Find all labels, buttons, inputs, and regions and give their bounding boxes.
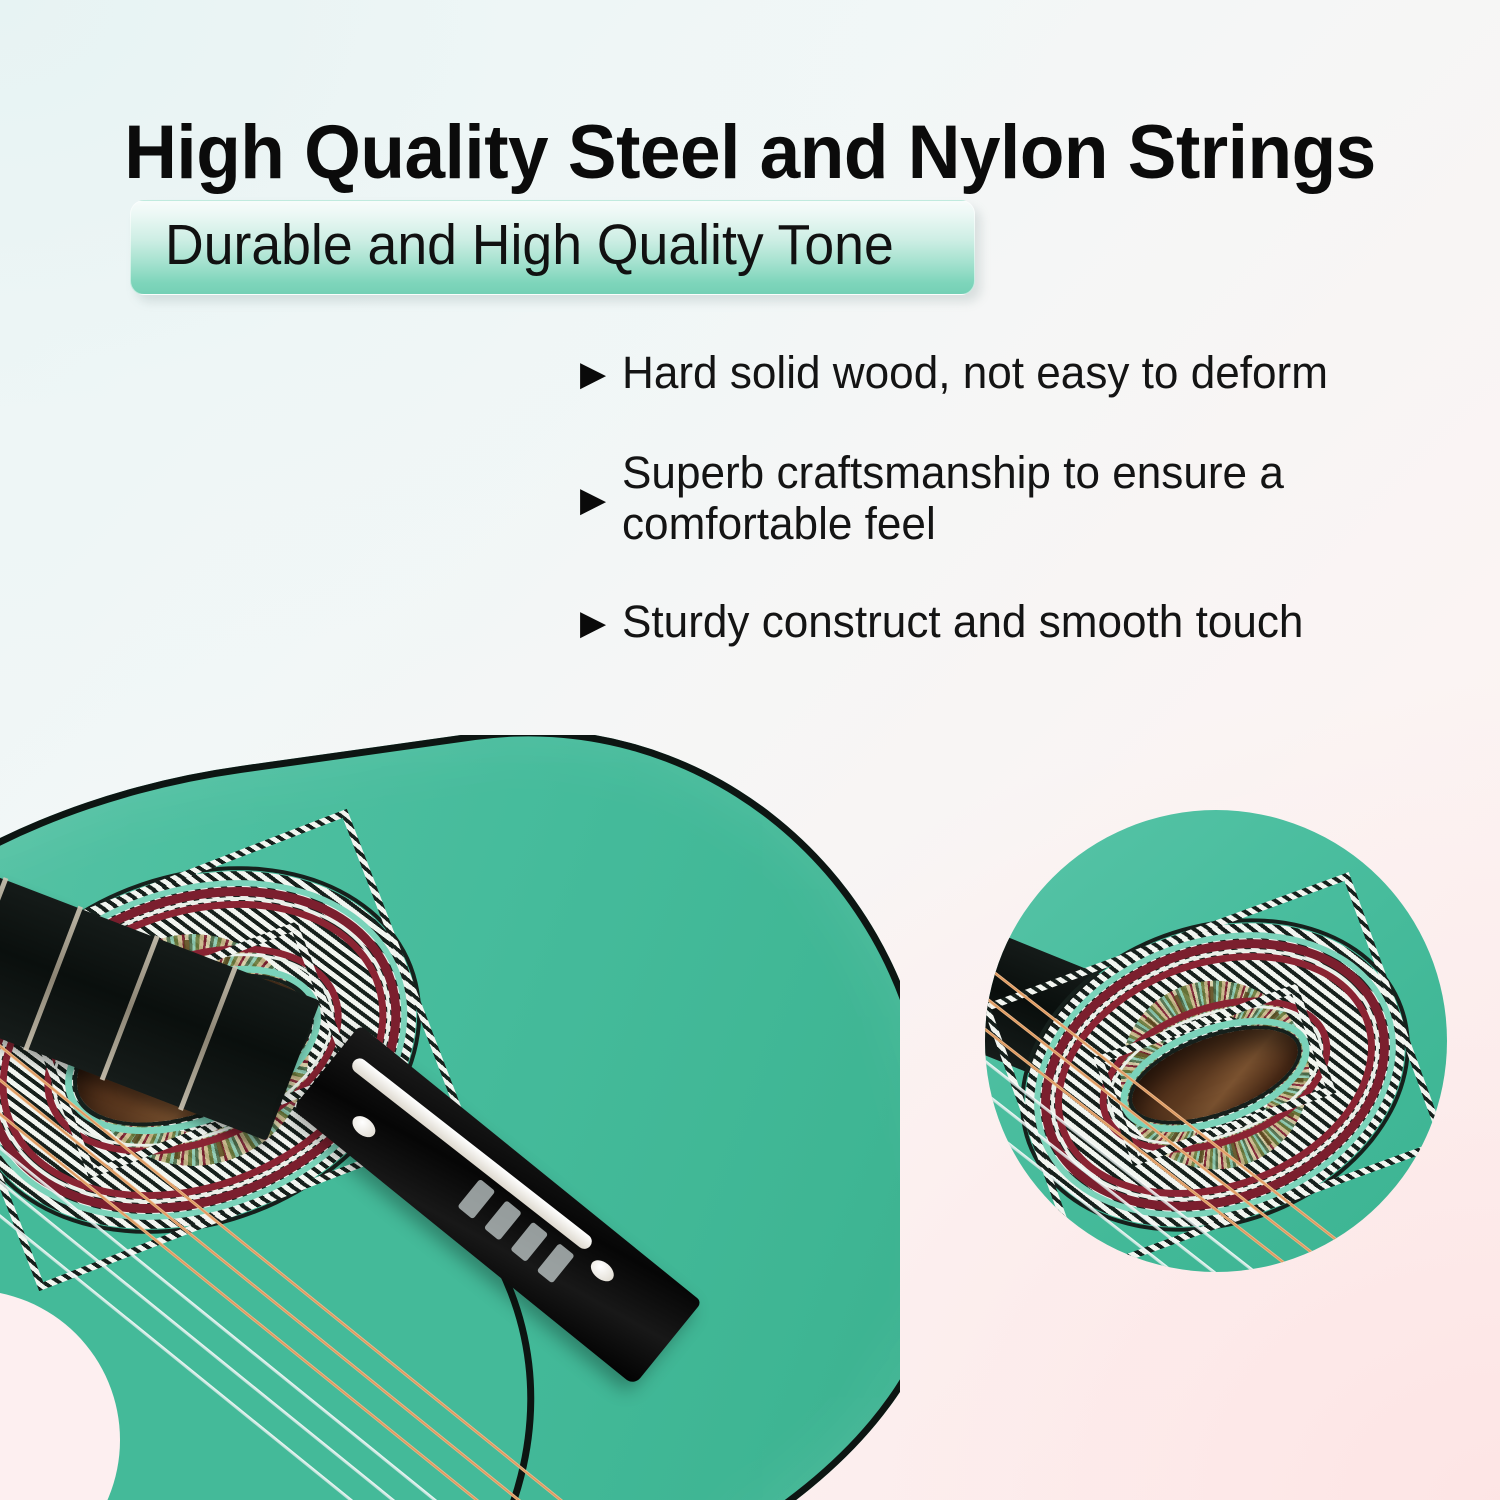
triangle-bullet-icon: ▶ [580, 357, 604, 391]
bridge-string-tie [537, 1243, 575, 1284]
subtitle-banner: Durable and High Quality Tone [130, 200, 975, 295]
guitar-main-photo [0, 735, 900, 1500]
bridge-inlay-dot [348, 1112, 379, 1142]
feature-list: ▶ Hard solid wood, not easy to deform ▶ … [580, 348, 1480, 648]
inset-guitar-strings [985, 810, 1447, 1272]
product-photo-area [0, 735, 1500, 1500]
guitar-string [985, 934, 1447, 1272]
guitar-detail-inset [985, 810, 1447, 1272]
triangle-bullet-icon: ▶ [580, 606, 604, 640]
guitar-string [985, 966, 1447, 1272]
list-item: ▶ Hard solid wood, not easy to deform [580, 348, 1480, 398]
triangle-bullet-icon: ▶ [580, 483, 604, 517]
guitar-string [985, 902, 1447, 1272]
guitar-string [985, 1030, 1447, 1272]
guitar-string [0, 753, 574, 1500]
product-feature-page: High Quality Steel and Nylon Strings Dur… [0, 0, 1500, 1500]
feature-text: Superb craftsmanship to ensure a comfort… [622, 448, 1406, 549]
subtitle-banner-label: Durable and High Quality Tone [165, 217, 894, 274]
page-title: High Quality Steel and Nylon Strings [30, 113, 1470, 193]
bridge-inlay-dot [587, 1256, 618, 1286]
guitar-string [985, 998, 1447, 1272]
bridge-string-tie [457, 1179, 495, 1220]
bridge-string-tie [484, 1200, 522, 1241]
list-item: ▶ Sturdy construct and smooth touch [580, 597, 1480, 647]
feature-text: Hard solid wood, not easy to deform [622, 348, 1328, 398]
bridge-string-tie [510, 1222, 548, 1263]
feature-text: Sturdy construct and smooth touch [622, 597, 1303, 647]
subtitle-banner-wrapper: Durable and High Quality Tone [130, 200, 975, 295]
list-item: ▶ Superb craftsmanship to ensure a comfo… [580, 448, 1480, 549]
